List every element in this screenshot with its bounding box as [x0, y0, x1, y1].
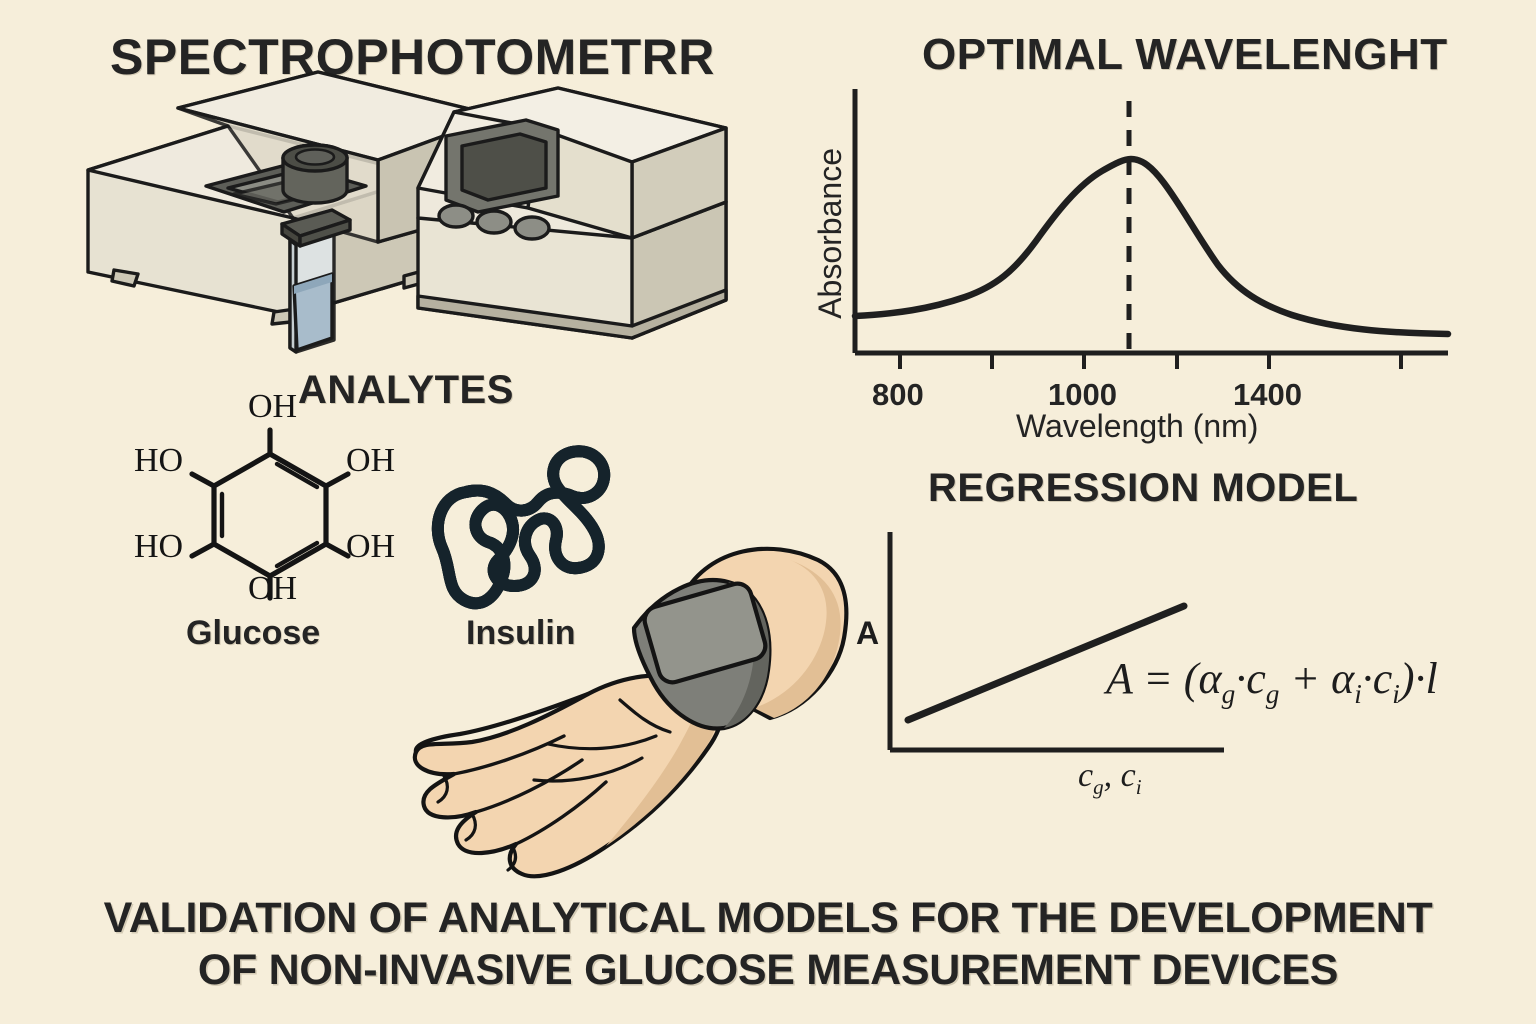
bench-spectrophotometer-right — [418, 88, 726, 338]
glucose-structure: OH HO OH HO OH OH — [150, 420, 390, 605]
formula-eq: = — [1143, 654, 1173, 703]
device-button-2 — [477, 211, 511, 233]
hydroxyl-label-bottom: OH — [248, 570, 297, 608]
absorbance-spectrum-chart: 800 1000 1400 — [800, 85, 1460, 385]
cg-sub: g — [1093, 775, 1104, 799]
regression-model-chart — [872, 528, 1312, 776]
formula-lhs: A — [1106, 654, 1132, 703]
bond-upper-left — [192, 474, 214, 486]
bond-lower-left — [192, 544, 214, 556]
regression-model-heading: REGRESSION MODEL — [928, 466, 1358, 511]
cg-base: c — [1078, 757, 1093, 794]
x-axis-title-wavelength: Wavelength (nm) — [1016, 408, 1258, 445]
x-tick-label-800: 800 — [872, 377, 924, 413]
device-button-1 — [439, 205, 473, 227]
spectrophotometer-heading: SPECTROPHOTOMETRR — [110, 28, 715, 86]
formula-alpha-i-sub: i — [1354, 679, 1362, 709]
glucose-label: Glucose — [186, 614, 320, 653]
ci-base: c — [1121, 757, 1136, 794]
formula-path-length: l — [1426, 654, 1438, 703]
hydroxyl-label-upper-right: OH — [346, 442, 395, 480]
formula-dot-1: · — [1235, 654, 1246, 703]
formula-c-i-sub: i — [1392, 679, 1400, 709]
formula-plus: + — [1290, 654, 1320, 703]
infographic-canvas: SPECTROPHOTOMETRR OPTIMAL WAVELENGHT ANA… — [0, 0, 1536, 1024]
formula-alpha-g-sub: g — [1222, 679, 1236, 709]
formula-close-paren: ) — [1400, 654, 1415, 703]
ring-hexagon — [214, 454, 326, 576]
bond-lower-right — [326, 544, 348, 556]
formula-dot-2: · — [1362, 654, 1373, 703]
formula-alpha-g: α — [1198, 654, 1221, 703]
poster-title-line-2: OF NON-INVASIVE GLUCOSE MEASUREMENT DEVI… — [0, 944, 1536, 996]
hydroxyl-label-top: OH — [248, 388, 297, 426]
spectrophotometer-illustration-group — [78, 100, 758, 350]
y-axis-title-absorbance: Absorbance — [812, 148, 849, 319]
hydroxyl-label-upper-left: HO — [134, 442, 183, 480]
formula-dot-3: · — [1415, 654, 1426, 703]
chart-axes — [855, 89, 1448, 353]
device-button-3 — [515, 217, 549, 239]
regression-y-axis-label: A — [856, 615, 879, 652]
optimal-wavelength-heading: OPTIMAL WAVELENGHT — [922, 30, 1448, 80]
ci-sub: i — [1136, 775, 1142, 799]
poster-title: VALIDATION OF ANALYTICAL MODELS FOR THE … — [0, 892, 1536, 997]
hydroxyl-label-lower-right: OH — [346, 528, 395, 566]
bond-upper-right — [326, 474, 348, 486]
regression-formula: A = (αg·cg + αi·ci)·l — [1106, 653, 1438, 710]
hydroxyl-label-lower-left: HO — [134, 528, 183, 566]
absorbance-curve — [855, 159, 1448, 334]
regression-x-axis-label: cg, ci — [1078, 757, 1142, 800]
formula-c-g-sub: g — [1266, 679, 1280, 709]
analytes-heading: ANALYTES — [298, 368, 514, 413]
formula-c-g: c — [1246, 654, 1266, 703]
poster-title-line-1: VALIDATION OF ANALYTICAL MODELS FOR THE … — [0, 892, 1536, 944]
hand-with-wearable-sensor — [398, 530, 858, 890]
formula-alpha-i: α — [1331, 654, 1354, 703]
formula-c-i: c — [1373, 654, 1393, 703]
formula-open-paren: ( — [1184, 654, 1199, 703]
